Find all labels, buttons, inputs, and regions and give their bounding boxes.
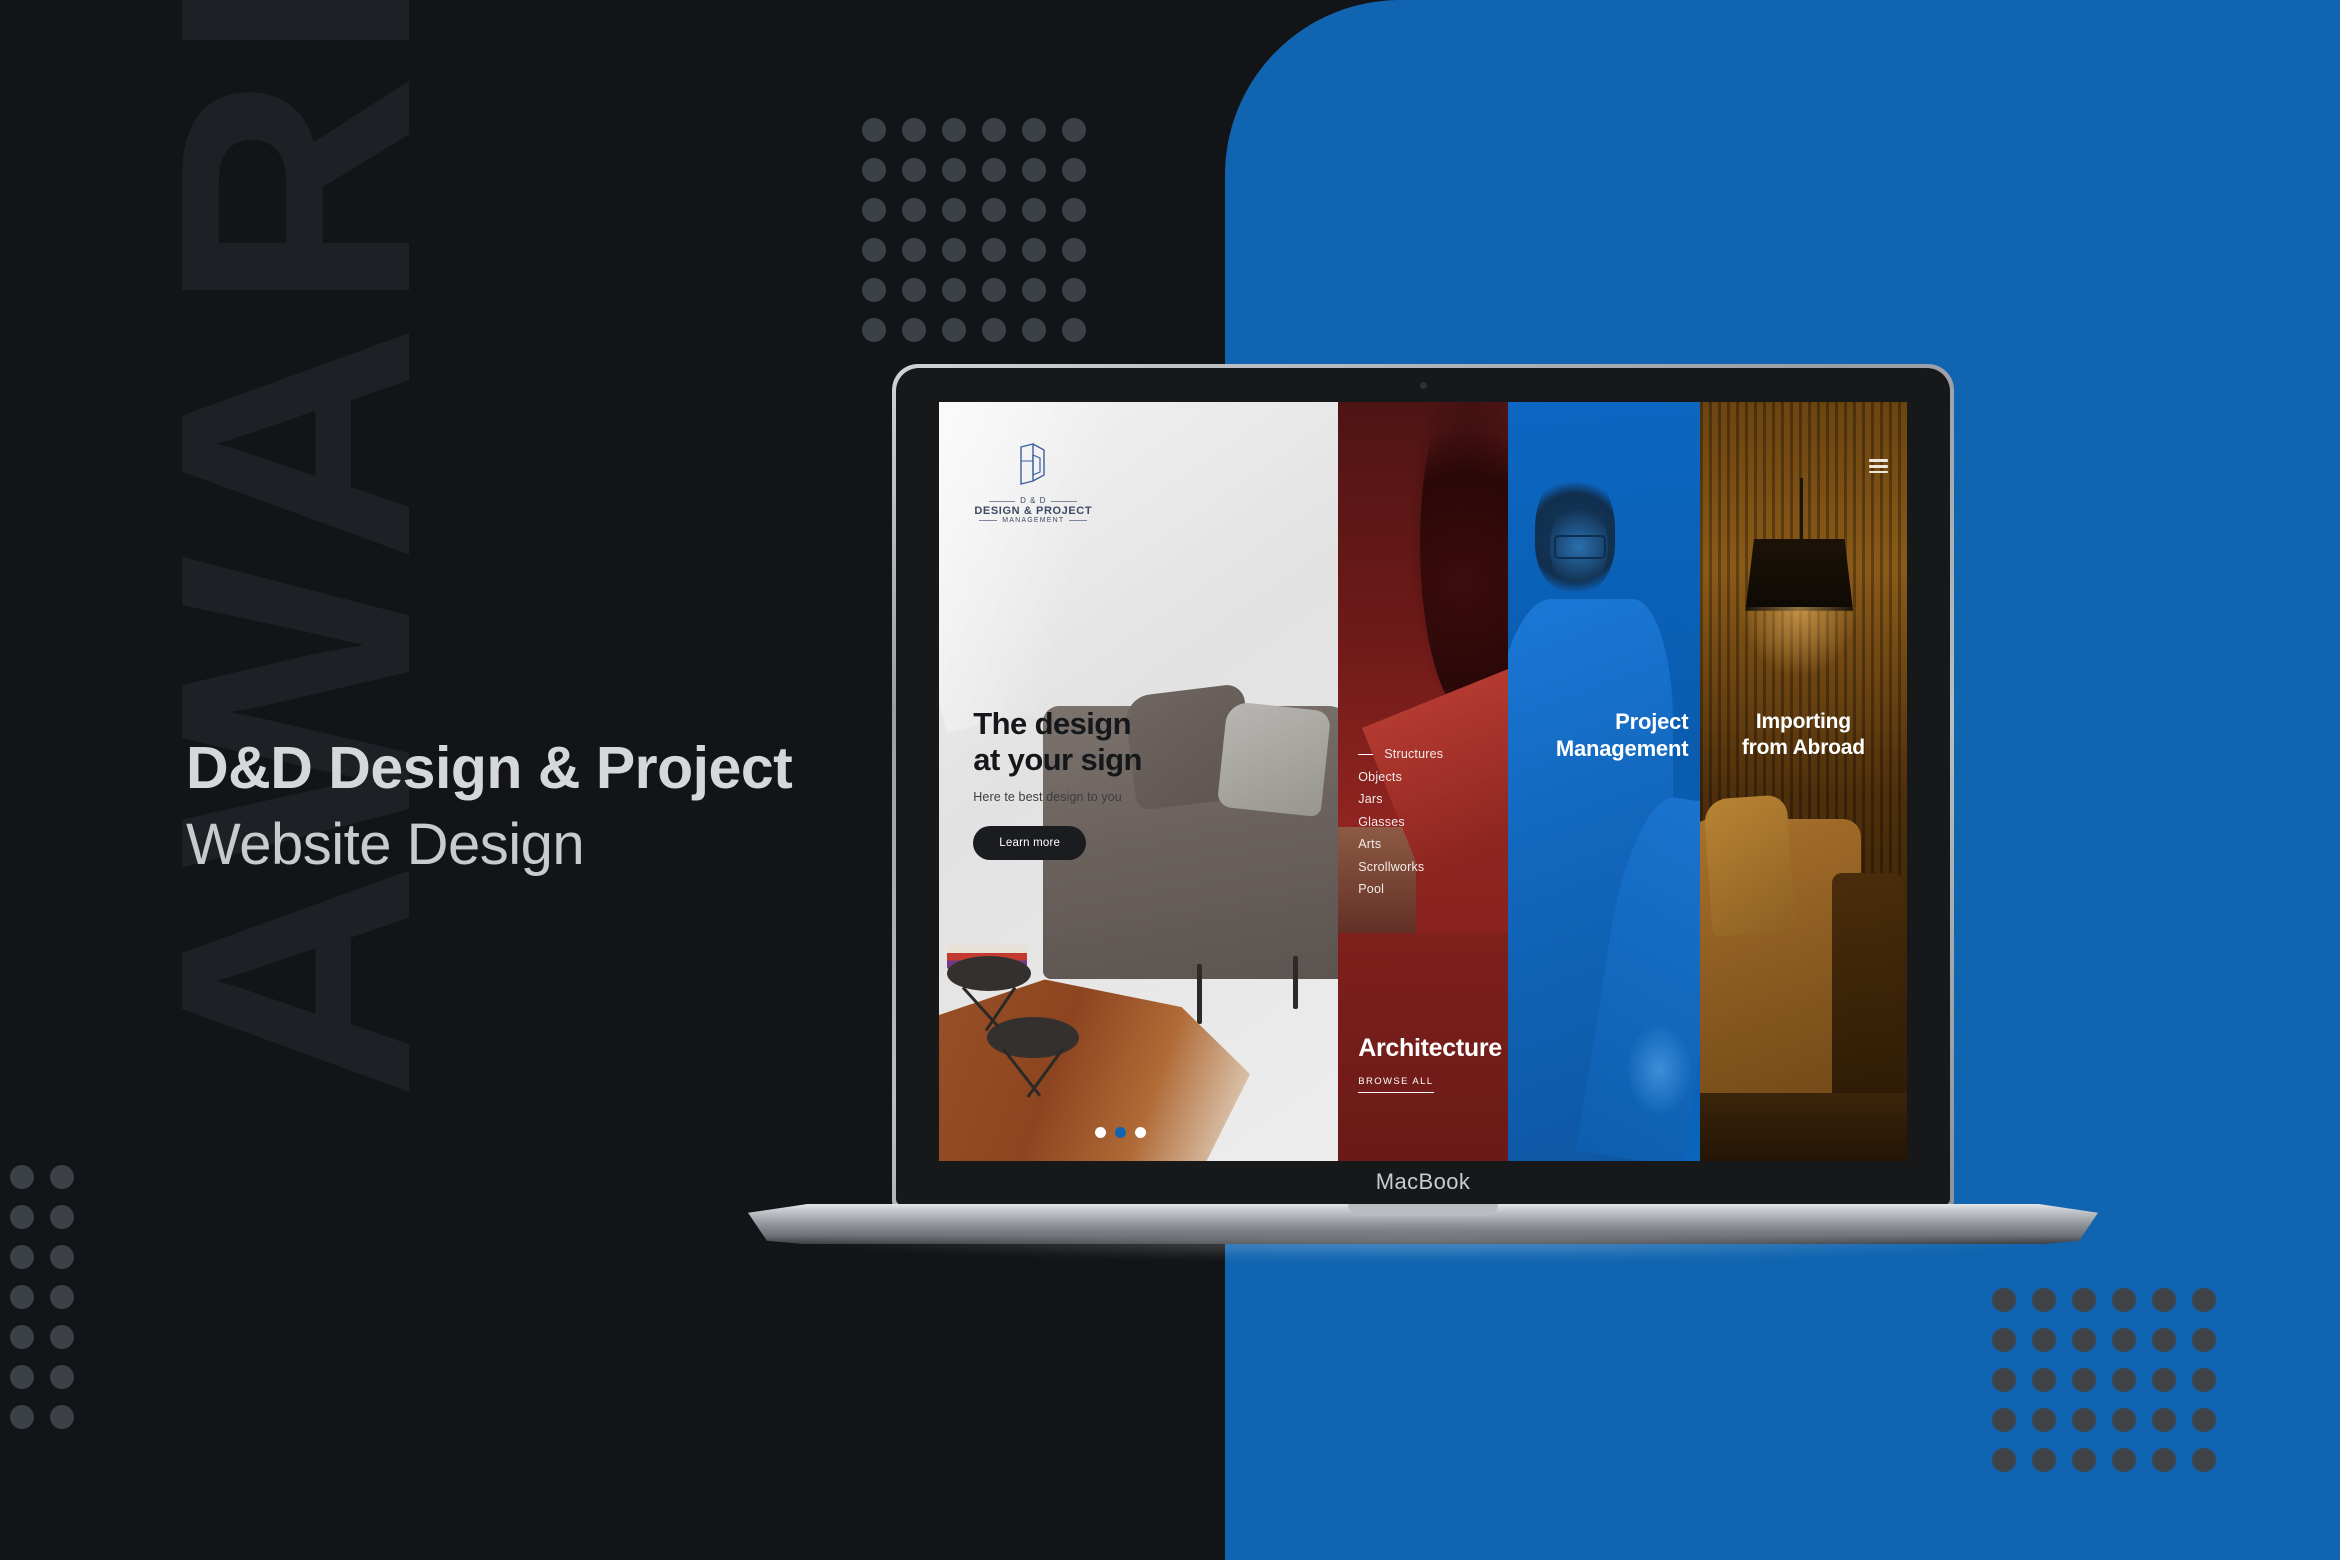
building-monogram-icon: [1010, 441, 1056, 487]
site-logo[interactable]: D & D DESIGN & PROJECT MANAGEMENT: [973, 441, 1093, 524]
laptop-reflection: [778, 1238, 2068, 1260]
nav-item-scrollworks[interactable]: Scrollworks: [1358, 860, 1443, 874]
lamp-glow-image: [1741, 607, 1857, 675]
nav-item-structures[interactable]: Structures: [1358, 747, 1443, 761]
importing-panel[interactable]: Importing from Abroad: [1700, 402, 1907, 1161]
laptop-screen: D & D DESIGN & PROJECT MANAGEMENT The de…: [939, 402, 1907, 1161]
learn-more-button[interactable]: Learn more: [973, 826, 1086, 860]
nav-item-arts[interactable]: Arts: [1358, 837, 1443, 851]
hero-title: The design at your sign: [973, 706, 1142, 779]
dot-grid-top: [862, 118, 1102, 358]
nav-item-objects[interactable]: Objects: [1358, 770, 1443, 784]
side-table-image: [947, 956, 1031, 991]
watermark-text: AWARE: [130, 0, 460, 1100]
architecture-heading: Architecture: [1358, 1034, 1502, 1063]
hero-title-line-1: The design: [973, 706, 1131, 741]
laptop-bezel: D & D DESIGN & PROJECT MANAGEMENT The de…: [896, 368, 1950, 1205]
laptop-notch: [1348, 1204, 1498, 1216]
carousel-dot-2-active[interactable]: [1115, 1127, 1126, 1138]
sofa-leg: [1197, 964, 1202, 1025]
importing-title-line-1: Importing: [1756, 710, 1851, 733]
project-title-line-2: Management: [1556, 736, 1688, 761]
hamburger-menu-icon[interactable]: [1869, 459, 1888, 477]
lamp-stem-image: [1800, 478, 1802, 546]
importing-panel-title: Importing from Abroad: [1700, 709, 1907, 760]
architecture-footer: Architecture BROWSE ALL: [1358, 1034, 1502, 1093]
active-dash-icon: [1358, 754, 1373, 756]
hero-subtitle: Here te best design to you: [973, 790, 1142, 804]
poster-stage: AWARE D&D Design & Project Website Desig…: [0, 0, 2340, 1560]
carousel-dot-3[interactable]: [1135, 1127, 1146, 1138]
sofa-leg: [1293, 956, 1298, 1009]
logo-line-1: D & D: [973, 496, 1093, 505]
gold-floor-image: [1700, 1093, 1907, 1161]
coffee-table-image: [987, 1017, 1079, 1058]
nav-item-pool[interactable]: Pool: [1358, 882, 1443, 896]
logo-line-3: MANAGEMENT: [973, 517, 1093, 524]
logo-line-2: DESIGN & PROJECT: [973, 505, 1093, 517]
architecture-panel[interactable]: Structures Objects Jars Glasses Arts Scr…: [1338, 402, 1508, 1161]
gold-chair-image: [1832, 873, 1902, 1101]
lamp-shade-image: [1745, 539, 1853, 611]
nav-item-jars[interactable]: Jars: [1358, 792, 1443, 806]
gold-cushion-image: [1703, 794, 1795, 936]
hero-title-line-2: at your sign: [973, 742, 1142, 777]
person-hand-image: [1627, 1024, 1692, 1115]
browse-all-link[interactable]: BROWSE ALL: [1358, 1076, 1433, 1093]
macbook-brand-label: MacBook: [896, 1169, 1950, 1195]
dot-grid-bottom-right: [1992, 1288, 2232, 1488]
carousel-dot-1[interactable]: [1095, 1127, 1106, 1138]
nav-item-glasses[interactable]: Glasses: [1358, 815, 1443, 829]
carousel-dots[interactable]: [1095, 1127, 1146, 1138]
eyeglasses-image: [1554, 535, 1606, 559]
macbook-mockup: D & D DESIGN & PROJECT MANAGEMENT The de…: [748, 364, 2098, 1264]
project-title-line-1: Project: [1615, 709, 1688, 734]
hero-copy: The design at your sign Here te best des…: [973, 706, 1142, 861]
project-management-panel[interactable]: Project Management: [1508, 402, 1700, 1161]
laptop-lid: D & D DESIGN & PROJECT MANAGEMENT The de…: [892, 364, 1954, 1209]
hero-panel: D & D DESIGN & PROJECT MANAGEMENT The de…: [939, 402, 1338, 1161]
webcam-icon: [1420, 382, 1427, 389]
importing-title-line-2: from Abroad: [1742, 736, 1865, 759]
architecture-nav-list[interactable]: Structures Objects Jars Glasses Arts Scr…: [1358, 747, 1443, 905]
cushion-light-image: [1217, 700, 1331, 817]
project-panel-title: Project Management: [1556, 709, 1688, 763]
dot-grid-left: [10, 1165, 90, 1445]
